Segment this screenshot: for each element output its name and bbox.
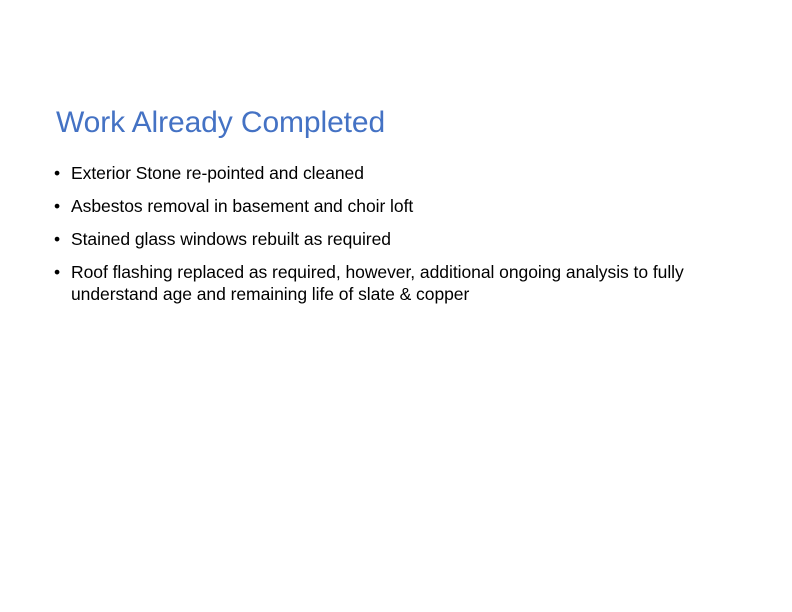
- bullet-point-icon: •: [54, 261, 64, 283]
- list-item-text: Asbestos removal in basement and choir l…: [71, 195, 750, 217]
- bullet-point-icon: •: [54, 162, 64, 184]
- list-item-text: Roof flashing replaced as required, howe…: [71, 261, 716, 305]
- slide-canvas: Work Already Completed • Exterior Stone …: [0, 0, 792, 612]
- bullet-point-icon: •: [54, 195, 64, 217]
- list-item-text: Exterior Stone re-pointed and cleaned: [71, 162, 750, 184]
- bullet-point-icon: •: [54, 228, 64, 250]
- bullet-list: • Exterior Stone re-pointed and cleaned …: [50, 162, 750, 305]
- list-item: • Stained glass windows rebuilt as requi…: [50, 228, 750, 250]
- list-item-text: Stained glass windows rebuilt as require…: [71, 228, 750, 250]
- list-item: • Roof flashing replaced as required, ho…: [50, 261, 750, 305]
- slide-body-placeholder: • Exterior Stone re-pointed and cleaned …: [50, 162, 750, 305]
- slide-title: Work Already Completed: [56, 106, 736, 141]
- list-item: • Asbestos removal in basement and choir…: [50, 195, 750, 217]
- list-item: • Exterior Stone re-pointed and cleaned: [50, 162, 750, 184]
